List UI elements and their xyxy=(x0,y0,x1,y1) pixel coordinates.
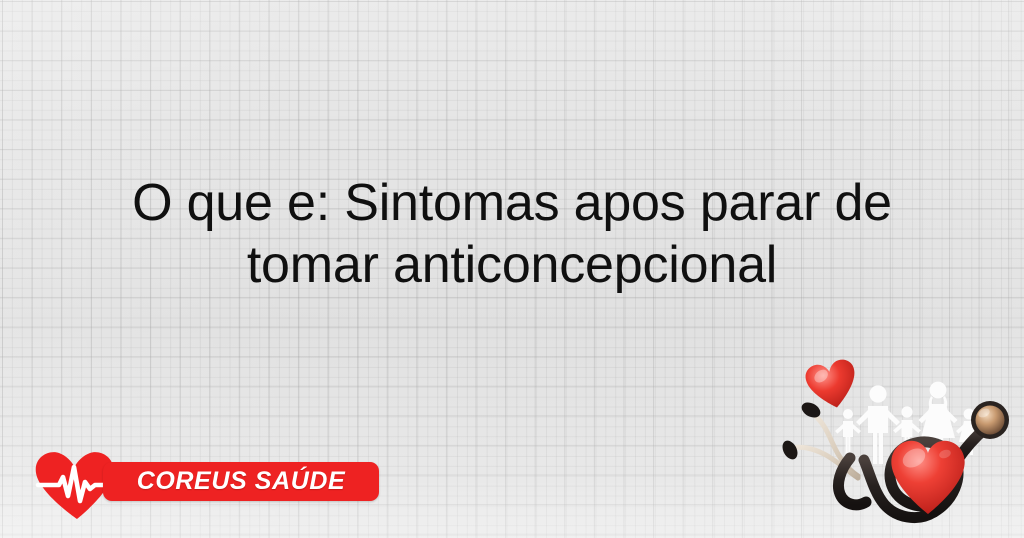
banner: O que e: Sintomas apos parar de tomar an… xyxy=(0,0,1024,538)
brand-name-label: COREUS SAÚDE xyxy=(103,462,379,501)
page-title: O que e: Sintomas apos parar de tomar an… xyxy=(62,172,962,296)
medical-illustration xyxy=(778,352,1024,538)
stethoscope-chestpiece xyxy=(971,401,1009,439)
brand-logo: COREUS SAÚDE xyxy=(33,449,353,521)
